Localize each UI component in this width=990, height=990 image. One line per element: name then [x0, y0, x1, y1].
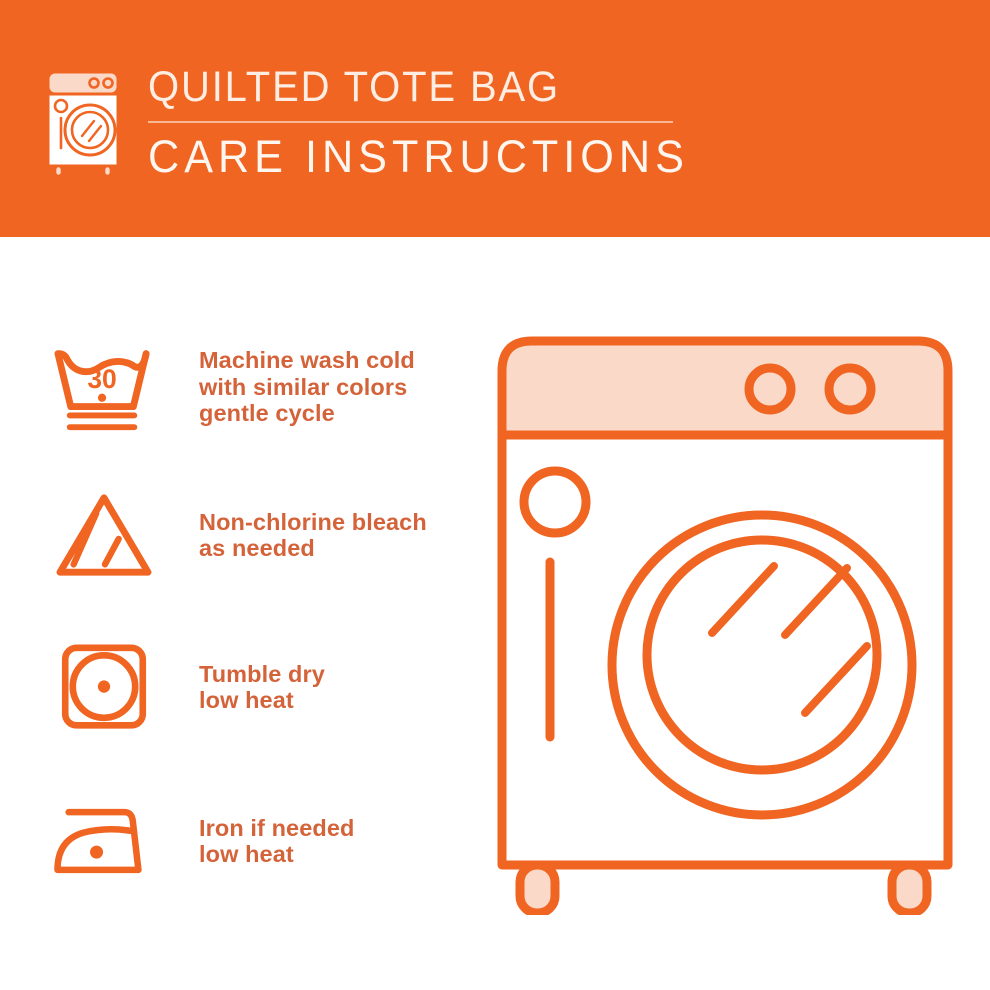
page-subtitle: CARE INSTRUCTIONS: [148, 131, 689, 183]
tumble-dry-low-heat-icon: [45, 635, 163, 739]
header-content: QUILTED TOTE BAG CARE INSTRUCTIONS: [42, 60, 711, 184]
care-item-machine-wash: 30 Machine wash cold with similar colors…: [45, 335, 475, 439]
header-banner: QUILTED TOTE BAG CARE INSTRUCTIONS: [0, 0, 990, 237]
leg-right: [892, 865, 927, 913]
care-line: Machine wash cold: [199, 347, 415, 374]
care-item-bleach: Non-chlorine bleach as needed: [45, 483, 475, 587]
care-item-text: Machine wash cold with similar colors ge…: [199, 347, 415, 427]
page-title: QUILTED TOTE BAG: [148, 62, 672, 112]
care-instructions-list: 30 Machine wash cold with similar colors…: [0, 237, 500, 990]
care-item-iron: Iron if needed low heat: [45, 789, 475, 893]
care-line: with similar colors: [199, 374, 415, 401]
wash-tub-30-gentle-icon: 30: [45, 335, 163, 439]
front-load-washing-machine-illustration: [480, 325, 980, 915]
care-line: Iron if needed: [199, 815, 354, 842]
non-chlorine-bleach-triangle-icon: [45, 483, 163, 587]
care-item-text: Tumble dry low heat: [199, 661, 325, 714]
care-line: Tumble dry: [199, 661, 325, 688]
care-item-text: Iron if needed low heat: [199, 815, 354, 868]
care-line: low heat: [199, 841, 354, 868]
control-panel: [502, 341, 948, 435]
header-titles: QUILTED TOTE BAG CARE INSTRUCTIONS: [148, 60, 711, 183]
title-divider: [148, 121, 673, 123]
leg-left: [520, 865, 555, 913]
care-line: as needed: [199, 535, 427, 562]
iron-low-heat-icon: [45, 789, 163, 893]
care-line: gentle cycle: [199, 400, 415, 427]
care-item-tumble-dry: Tumble dry low heat: [45, 635, 475, 739]
washing-machine-icon: [42, 66, 134, 184]
care-line: Non-chlorine bleach: [199, 509, 427, 536]
care-line: low heat: [199, 687, 325, 714]
wash-temperature-label: 30: [87, 364, 116, 394]
care-item-text: Non-chlorine bleach as needed: [199, 509, 427, 562]
